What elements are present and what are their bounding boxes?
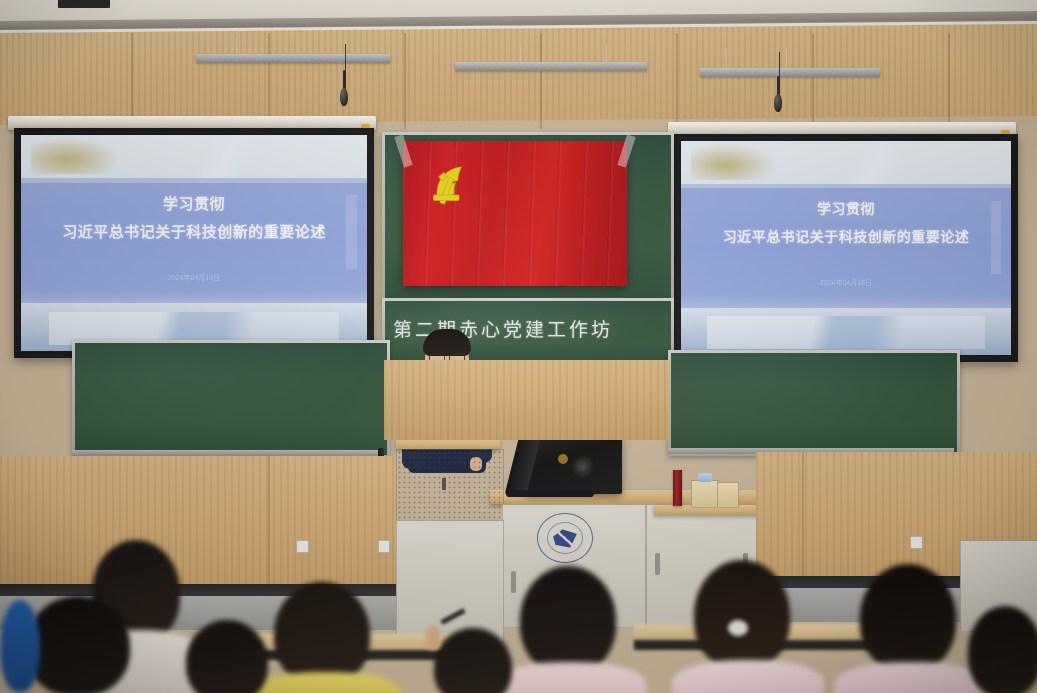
audience-head <box>968 606 1037 693</box>
slide-title-line2: 习近平总书记关于科技创新的重要论述 <box>681 227 1011 247</box>
lecture-hall-photo: 学习贯彻 习近平总书记关于科技创新的重要论述 2024年04月18日 学习贯彻 … <box>0 0 1037 693</box>
audience-shoulders <box>672 660 824 693</box>
microphone-stem <box>343 70 346 90</box>
right-blackboard <box>668 350 960 456</box>
lamp-wire <box>726 48 727 70</box>
red-book <box>673 470 682 506</box>
cpc-party-flag <box>403 141 627 286</box>
monitor-glare <box>572 456 594 478</box>
slide-date: 2024年04月18日 <box>21 273 367 283</box>
ceiling-projector-mount <box>58 0 110 8</box>
lectern-cable <box>442 478 446 490</box>
hair-tie <box>728 620 748 636</box>
slide-tree-foliage <box>691 143 777 179</box>
monitor-led <box>558 454 568 464</box>
monitor-base <box>506 490 594 497</box>
wall-seam <box>404 33 406 129</box>
wall-seam <box>802 452 804 582</box>
cabinet-handle[interactable] <box>511 571 516 593</box>
lamp-wire <box>786 48 787 70</box>
left-blackboard <box>72 340 390 458</box>
blackboard-surface <box>75 343 387 455</box>
wall-seam <box>540 33 542 129</box>
speaker-hair <box>423 329 471 356</box>
microphone-stem <box>777 76 780 96</box>
audience-shoulders <box>494 662 646 693</box>
audience-shoulders <box>0 600 40 692</box>
audience-shoulders <box>834 662 988 693</box>
wall-seam <box>676 33 678 129</box>
wall-seam <box>948 33 950 129</box>
wall-seam <box>131 33 133 129</box>
wall-outlet[interactable] <box>378 540 390 553</box>
slide-plaza <box>681 308 1011 355</box>
audience-head <box>26 596 130 693</box>
audience-hand <box>426 626 440 650</box>
slide-building-edge <box>773 141 971 188</box>
ceiling-lamp-2 <box>455 62 647 71</box>
audience-head <box>860 564 956 672</box>
slide-title-line2: 习近平总书记关于科技创新的重要论述 <box>21 221 367 242</box>
slide-date: 2024年04月18日 <box>681 278 1011 288</box>
right-screen-surface: 学习贯彻 习近平总书记关于科技创新的重要论述 2024年04月18日 <box>681 141 1011 355</box>
rear-cabinet-center <box>396 520 504 642</box>
right-projection-screen: 学习贯彻 习近平总书记关于科技创新的重要论述 2024年04月18日 <box>674 134 1018 362</box>
hammer-and-sickle-icon <box>423 156 490 217</box>
wall-seam <box>268 456 270 584</box>
audience-shoulders <box>250 672 400 693</box>
lower-wood-wall-left <box>0 456 396 596</box>
cardboard-box-small <box>717 482 739 508</box>
audience-head <box>186 620 268 693</box>
slide-title-line1: 学习贯彻 <box>681 199 1011 219</box>
ceiling-lamp-3 <box>700 68 880 77</box>
wall-seam <box>268 33 270 129</box>
slide-tree-foliage <box>31 137 121 174</box>
slide-title-line1: 学习贯彻 <box>21 193 367 214</box>
microphone-icon <box>774 94 782 112</box>
lower-wood-wall-center <box>384 360 670 440</box>
audience-head <box>694 560 790 670</box>
lamp-wire <box>520 44 521 64</box>
blue-cup <box>698 473 712 482</box>
wall-seam <box>812 33 814 129</box>
wall-outlet[interactable] <box>910 536 923 549</box>
university-seal-logo <box>537 513 593 563</box>
audience-head <box>274 582 370 686</box>
left-projection-screen: 学习贯彻 习近平总书记关于科技创新的重要论述 2024年04月18日 <box>14 128 374 358</box>
wall-outlet[interactable] <box>296 540 309 553</box>
audience-head <box>520 566 616 674</box>
microphone-icon <box>340 88 348 106</box>
left-screen-surface: 学习贯彻 习近平总书记关于科技创新的重要论述 2024年04月18日 <box>21 135 367 351</box>
ceiling-lamp-1 <box>196 54 390 63</box>
cabinet-handle[interactable] <box>655 553 660 575</box>
cardboard-box-large <box>691 480 719 508</box>
upper-wood-wall <box>0 24 1037 125</box>
slide-building-edge <box>118 135 326 183</box>
blackboard-surface <box>671 353 957 453</box>
